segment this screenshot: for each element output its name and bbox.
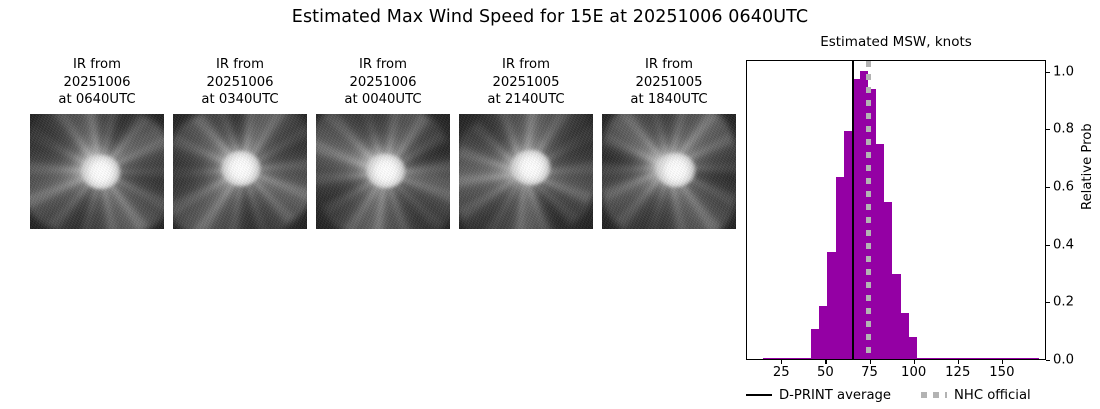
histogram-bar <box>990 358 998 359</box>
x-axis-tick <box>914 360 915 364</box>
nhc-official-line <box>866 61 871 359</box>
x-axis-tick-label: 100 <box>901 365 926 380</box>
ir-satellite-image[interactable] <box>316 114 450 229</box>
y-axis-tick <box>1046 72 1050 73</box>
chart-plot-area[interactable] <box>746 60 1046 360</box>
ir-satellite-image[interactable] <box>30 114 164 229</box>
histogram-bar <box>901 313 909 359</box>
histogram-bar <box>909 337 917 359</box>
histogram-bar <box>795 358 803 359</box>
histogram-bar <box>836 177 844 359</box>
ir-satellite-image-content <box>316 114 450 229</box>
ir-panel-row: IR from 20251006 at 0640UTC IR from 2025… <box>0 56 740 286</box>
histogram-bar <box>957 358 965 359</box>
y-axis-tick <box>1046 245 1050 246</box>
y-axis-tick <box>1046 302 1050 303</box>
ir-panel-caption: IR from 20251006 at 0040UTC <box>316 56 450 109</box>
histogram-bar <box>917 358 925 359</box>
legend-entry-dprint: D-PRINT average <box>746 388 891 403</box>
x-axis-tick-label: 150 <box>989 365 1014 380</box>
histogram-bar <box>884 202 892 359</box>
x-axis-tick <box>1002 360 1003 364</box>
x-axis-tick <box>781 360 782 364</box>
histogram-bar <box>965 358 973 359</box>
legend-label: D-PRINT average <box>779 388 891 403</box>
histogram-bar <box>803 358 811 359</box>
y-axis-tick <box>1046 187 1050 188</box>
histogram-bar <box>827 252 835 359</box>
histogram-bar <box>949 358 957 359</box>
histogram-bar <box>1006 358 1014 359</box>
x-axis-tick-label: 75 <box>861 365 878 380</box>
histogram-bar <box>771 358 779 359</box>
ir-satellite-image-content <box>30 114 164 229</box>
histogram-bar <box>892 274 900 359</box>
histogram-bar <box>941 358 949 359</box>
ir-satellite-image-content <box>602 114 736 229</box>
ir-satellite-image[interactable] <box>602 114 736 229</box>
histogram-bar <box>876 144 884 359</box>
histogram-bar <box>1014 358 1022 359</box>
ir-panel-caption: IR from 20251006 at 0340UTC <box>173 56 307 109</box>
ir-satellite-image[interactable] <box>173 114 307 229</box>
histogram-bar <box>1022 358 1030 359</box>
legend-line-dotted-icon <box>921 392 947 397</box>
ir-satellite-image-content <box>459 114 593 229</box>
histogram-bar <box>974 358 982 359</box>
y-axis-tick-label: 1.0 <box>1053 64 1074 79</box>
histogram-bar <box>844 131 852 359</box>
ir-panel-caption: IR from 20251006 at 0640UTC <box>30 56 164 109</box>
x-axis-tick <box>870 360 871 364</box>
histogram-bar <box>779 358 787 359</box>
y-axis-tick-label: 0.2 <box>1053 295 1074 310</box>
y-axis-tick-label: 0.4 <box>1053 237 1074 252</box>
ir-satellite-image[interactable] <box>459 114 593 229</box>
y-axis-tick-label: 0.0 <box>1053 353 1074 368</box>
histogram-bar <box>1030 358 1038 359</box>
y-axis-tick-label: 0.8 <box>1053 122 1074 137</box>
chart-title: Estimated MSW, knots <box>746 34 1046 50</box>
dprint-average-line <box>852 61 854 359</box>
ir-panel[interactable]: IR from 20251005 at 2140UTC <box>459 56 593 229</box>
legend-line-solid-icon <box>746 394 772 396</box>
histogram-bar <box>852 79 860 359</box>
histogram-bar <box>787 358 795 359</box>
y-axis-tick-label: 0.6 <box>1053 179 1074 194</box>
y-axis-label: Relative Prob <box>1080 123 1095 210</box>
ir-panel-caption: IR from 20251005 at 2140UTC <box>459 56 593 109</box>
x-axis-tick-label: 125 <box>945 365 970 380</box>
x-axis-tick <box>958 360 959 364</box>
ir-panel[interactable]: IR from 20251006 at 0040UTC <box>316 56 450 229</box>
ir-panel-caption: IR from 20251005 at 1840UTC <box>602 56 736 109</box>
legend-entry-nhc: NHC official <box>921 388 1031 403</box>
page-title: Estimated Max Wind Speed for 15E at 2025… <box>0 7 1100 27</box>
chart-legend: D-PRINT average NHC official <box>746 385 1076 405</box>
x-axis-tick <box>825 360 826 364</box>
histogram-bar <box>982 358 990 359</box>
histogram-bar <box>868 89 876 359</box>
histogram-bar <box>933 358 941 359</box>
y-axis-tick <box>1046 360 1050 361</box>
legend-label: NHC official <box>954 388 1031 403</box>
y-axis-tick <box>1046 129 1050 130</box>
histogram-bar <box>925 358 933 359</box>
histogram-bar <box>763 358 771 359</box>
ir-panel[interactable]: IR from 20251006 at 0640UTC <box>30 56 164 229</box>
x-axis-tick-label: 50 <box>817 365 834 380</box>
ir-panel[interactable]: IR from 20251006 at 0340UTC <box>173 56 307 229</box>
x-axis-tick-label: 25 <box>773 365 790 380</box>
ir-satellite-image-content <box>173 114 307 229</box>
histogram-bar <box>998 358 1006 359</box>
histogram-bar <box>811 329 819 359</box>
histogram-bar <box>819 306 827 359</box>
histogram-bar <box>860 71 868 359</box>
ir-panel[interactable]: IR from 20251005 at 1840UTC <box>602 56 736 229</box>
